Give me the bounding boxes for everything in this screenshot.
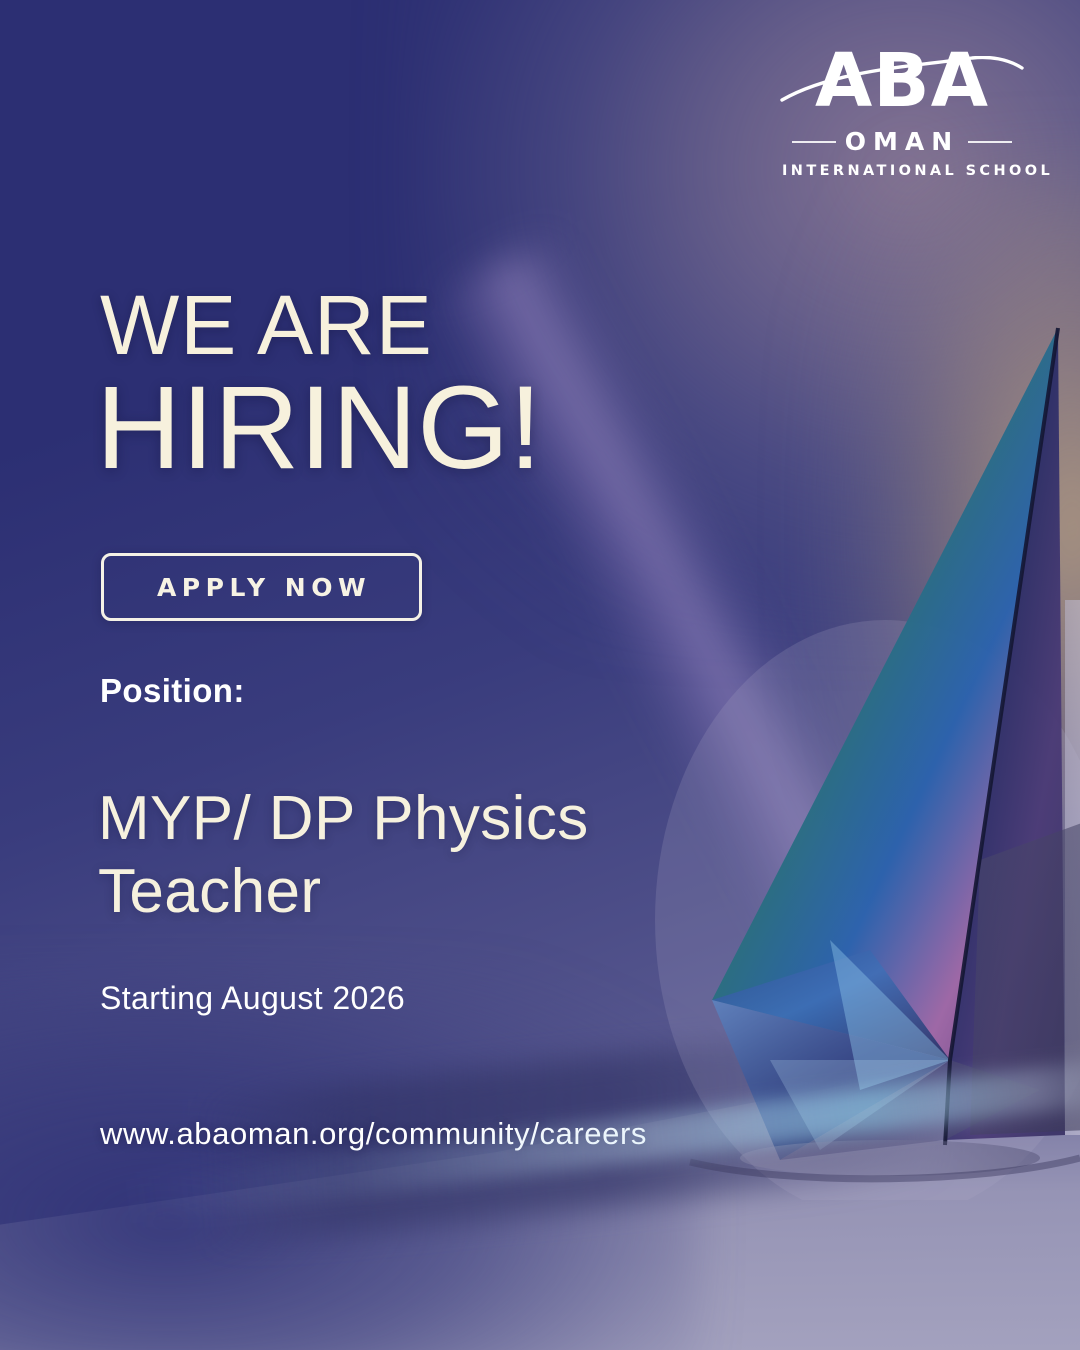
- position-label: Position:: [100, 672, 245, 710]
- logo-wordmark-wrap: ABA: [782, 40, 1022, 122]
- headline-line-1: WE ARE: [100, 283, 433, 367]
- start-date: Starting August 2026: [100, 980, 405, 1017]
- logo-rule-right: [968, 141, 1012, 143]
- glass-prism-photograph: [620, 300, 1080, 1200]
- logo-subtitle: INTERNATIONAL SCHOOL: [782, 163, 1022, 179]
- apply-now-label: APPLY NOW: [152, 573, 371, 602]
- logo-country-row: OMAN: [782, 127, 1022, 156]
- hiring-poster: ABA OMAN INTERNATIONAL SCHOOL WE ARE HIR…: [0, 0, 1080, 1350]
- position-title: MYP/ DP Physics Teacher: [98, 782, 589, 928]
- logo-country: OMAN: [845, 127, 959, 156]
- logo-rule-left: [792, 141, 836, 143]
- logo-swoosh-icon: [776, 56, 1028, 120]
- aba-oman-logo: ABA OMAN INTERNATIONAL SCHOOL: [782, 40, 1022, 179]
- apply-now-button[interactable]: APPLY NOW: [101, 553, 422, 621]
- headline-line-2: HIRING!: [96, 368, 542, 488]
